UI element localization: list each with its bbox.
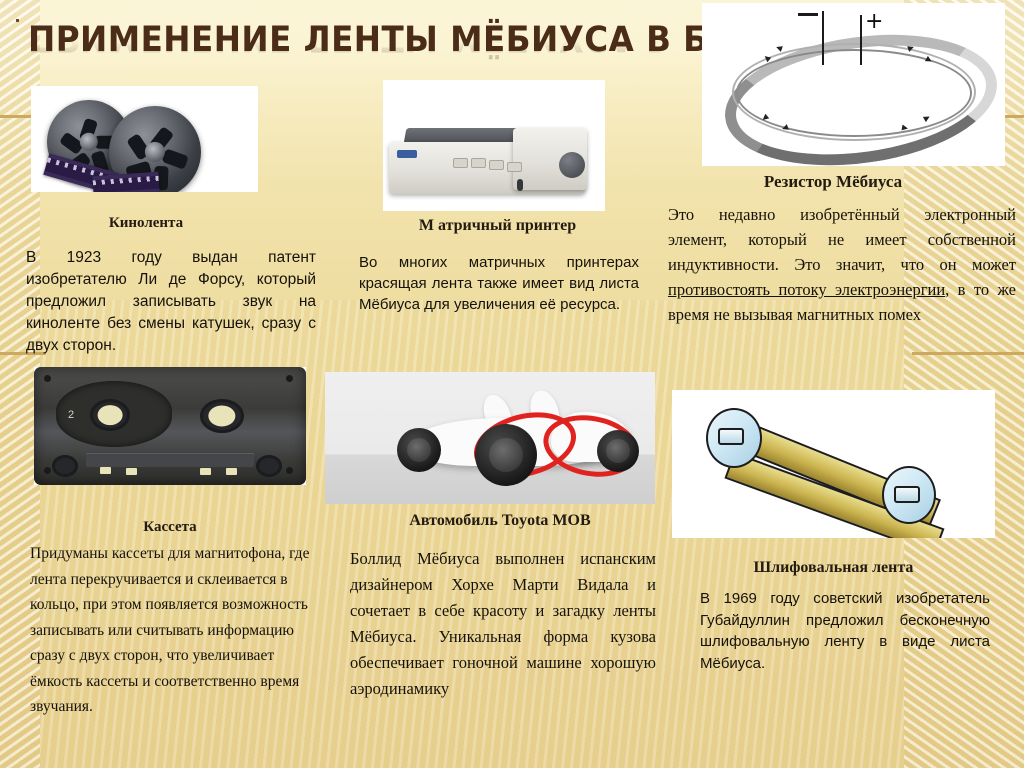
- film-strip-right: [92, 172, 159, 192]
- toyota-mob-concept-car-photo: [325, 372, 655, 504]
- kinolenta-heading: Кинолента: [31, 215, 261, 232]
- cassette-notch: [126, 468, 137, 475]
- car-wheel-rear: [597, 430, 639, 472]
- printer-button[interactable]: [453, 158, 468, 168]
- printer-body: Во многих матричных принтерах красящая л…: [359, 252, 639, 315]
- printer-button[interactable]: [507, 162, 522, 172]
- sanding-belt-illustration: [672, 390, 995, 538]
- film-reels-photo: [31, 86, 258, 192]
- slide-title-group: ПРИМЕНЕНИЕ ЛЕНТЫ МЁБИУСА В БЫТУ: ПРИМЕНЕ…: [28, 18, 708, 88]
- resistor-body: Это недавно изобретённый электронный эле…: [668, 202, 1016, 327]
- mobius-resistor-diagram: +: [702, 3, 1005, 166]
- cassette-side-label: 2: [68, 409, 74, 421]
- printer-button[interactable]: [471, 158, 486, 168]
- slide-title-reflection: ПРИМЕНЕНИЕ ЛЕНТЫ МЁБИУСА В БЫТУ:: [28, 16, 660, 60]
- belt-axle-left: [718, 428, 744, 445]
- presentation-slide: ПРИМЕНЕНИЕ ЛЕНТЫ МЁБИУСА В БЫТУ: ПРИМЕНЕ…: [0, 0, 1024, 768]
- resistor-body-underlined: противостоять потоку электроэнергии: [668, 280, 945, 299]
- cassette-screw: [44, 375, 51, 382]
- printer-knob[interactable]: [559, 152, 585, 178]
- resistor-heading: Резистор Мёбиуса: [668, 172, 998, 192]
- cassette-body: Придуманы кассеты для магнитофона, где л…: [30, 541, 320, 720]
- decor-rule-right-mid: [912, 352, 1024, 355]
- cassette-heading: Кассета: [34, 519, 306, 536]
- negative-sign-mark: [798, 13, 818, 16]
- positive-terminal-label: +: [865, 11, 883, 33]
- cassette-notch: [100, 467, 111, 474]
- wheel-rim: [489, 438, 524, 473]
- positive-lead-wire: [860, 15, 862, 65]
- printer-slot: [517, 179, 523, 191]
- cassette-screw: [286, 467, 293, 474]
- cassette-notch: [226, 468, 237, 475]
- current-arrow: [775, 44, 783, 52]
- cassette-capstan-right: [256, 455, 282, 477]
- cassette-capstan-left: [52, 455, 78, 477]
- dot-matrix-printer-photo: [383, 80, 605, 211]
- printer-button[interactable]: [489, 160, 504, 170]
- toyota-heading: Автомобиль Toyota MOB: [345, 512, 655, 530]
- kinolenta-body: В 1923 году выдан патент изобретателю Ли…: [26, 247, 316, 357]
- sanding-belt-heading: Шлифовальная лента: [672, 559, 995, 577]
- printer-heading: М атричный принтер: [355, 217, 640, 235]
- epson-logo: [397, 150, 417, 158]
- wheel-rim: [606, 439, 630, 463]
- cassette-tape-window-bar: [86, 453, 254, 467]
- car-wheel-front-left: [397, 428, 441, 472]
- reel-hub: [80, 133, 98, 151]
- audio-cassette-photo: 2: [34, 367, 306, 485]
- cassette-hub-left: [90, 399, 130, 431]
- sanding-belt-body: В 1969 году советский изобретатель Губай…: [700, 588, 990, 674]
- toyota-body: Боллид Мёбиуса выполнен испанским дизайн…: [350, 546, 656, 702]
- cassette-hub-right: [200, 399, 244, 433]
- negative-lead-wire: [822, 11, 824, 65]
- cassette-screw: [44, 467, 51, 474]
- resistor-body-text-1: Это недавно изобретённый электронный эле…: [668, 205, 1016, 274]
- cassette-screw: [286, 375, 293, 382]
- current-arrow: [902, 125, 909, 132]
- belt-axle-right: [894, 486, 920, 503]
- cassette-notch: [200, 468, 211, 475]
- cassette-hub-gear: [208, 405, 235, 426]
- wheel-rim: [407, 438, 432, 463]
- corner-dot-decoration: [16, 19, 19, 22]
- car-wheel-center: [475, 424, 537, 486]
- cassette-hub-gear: [98, 405, 123, 425]
